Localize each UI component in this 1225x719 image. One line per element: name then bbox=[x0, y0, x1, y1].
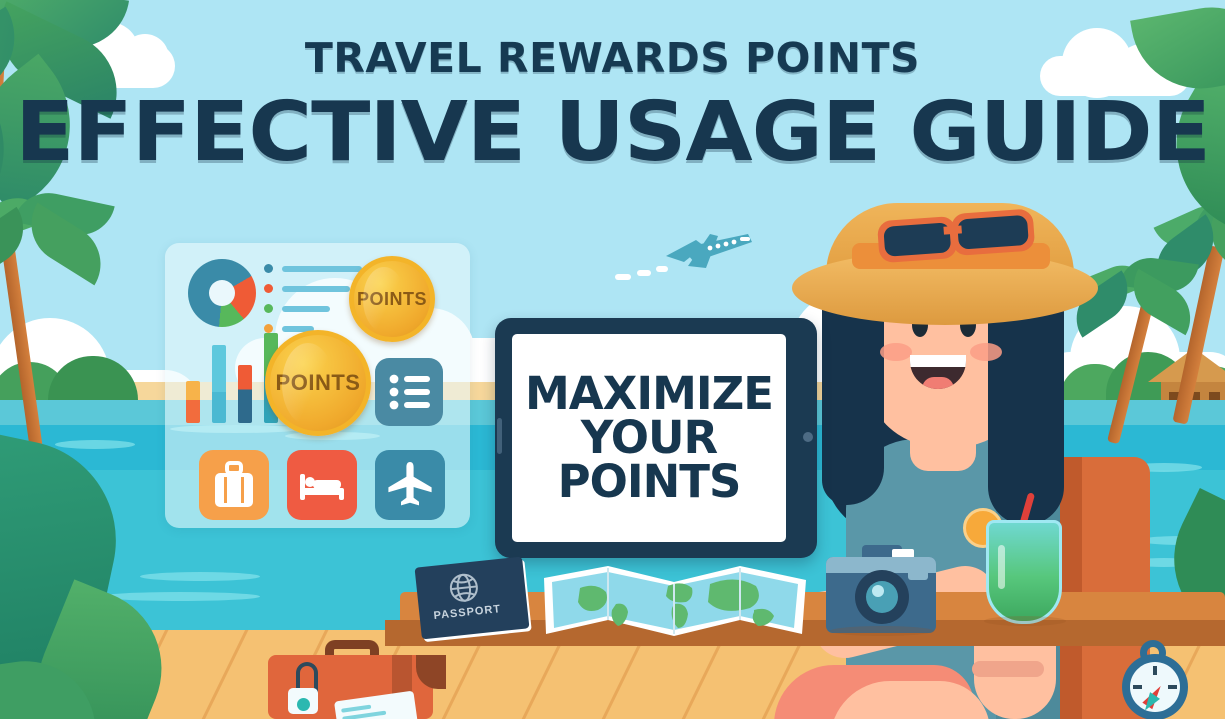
bar bbox=[212, 345, 226, 423]
world-map[interactable] bbox=[540, 560, 810, 638]
contrail bbox=[656, 266, 668, 272]
passport-label: PASSPORT bbox=[433, 603, 502, 622]
page-title: EFFECTIVE USAGE GUIDE bbox=[0, 92, 1225, 174]
glass-highlight bbox=[998, 545, 1005, 589]
coin-small: POINTS bbox=[349, 256, 435, 342]
item-shadow bbox=[984, 616, 1066, 626]
tablet-side-button[interactable] bbox=[497, 418, 502, 454]
eyebrow-title: TRAVEL REWARDS POINTS bbox=[0, 34, 1225, 82]
tile-luggage[interactable] bbox=[199, 450, 269, 520]
luggage-tag[interactable] bbox=[288, 688, 318, 714]
cheek-right bbox=[970, 343, 1002, 361]
donut-chart-hole bbox=[209, 280, 235, 306]
tablet-line-3: POINTS bbox=[558, 460, 741, 504]
passport[interactable]: PASSPORT bbox=[415, 557, 530, 640]
camera-lens-glint bbox=[872, 585, 884, 597]
tile-hotel[interactable] bbox=[287, 450, 357, 520]
infographic-banner: TRAVEL REWARDS POINTS EFFECTIVE USAGE GU… bbox=[0, 0, 1225, 719]
tablet-camera bbox=[803, 432, 813, 442]
watch bbox=[972, 661, 1044, 677]
bed-icon bbox=[287, 507, 357, 524]
list-icon bbox=[375, 413, 443, 430]
compass-tick bbox=[1153, 666, 1157, 675]
tile-flight[interactable] bbox=[375, 450, 445, 520]
coin-large: POINTS bbox=[265, 330, 371, 436]
suitcase-corner bbox=[416, 655, 446, 689]
wave bbox=[140, 572, 260, 581]
tablet-line-1: MAXIMIZE bbox=[525, 372, 773, 416]
compass-tick bbox=[1168, 685, 1177, 689]
tablet-screen[interactable]: MAXIMIZE YOUR POINTS bbox=[512, 334, 786, 542]
camera-button[interactable] bbox=[908, 566, 928, 580]
airplane-icon bbox=[375, 507, 445, 524]
contrail bbox=[615, 274, 631, 280]
tropical-drink bbox=[986, 520, 1062, 624]
tablet-line-2: YOUR bbox=[581, 416, 717, 460]
suitcase-icon bbox=[199, 507, 269, 524]
coin-small-label: POINTS bbox=[357, 289, 427, 310]
cheek-left bbox=[880, 343, 912, 361]
compass-tick bbox=[1133, 685, 1142, 689]
tile-list[interactable] bbox=[375, 358, 443, 426]
item-shadow bbox=[830, 626, 934, 636]
bar bbox=[186, 381, 200, 423]
contrail bbox=[637, 270, 651, 276]
bar bbox=[238, 365, 252, 423]
wave bbox=[100, 592, 260, 601]
coin-large-label: POINTS bbox=[276, 370, 361, 396]
palm-tree-left-small bbox=[0, 200, 140, 460]
